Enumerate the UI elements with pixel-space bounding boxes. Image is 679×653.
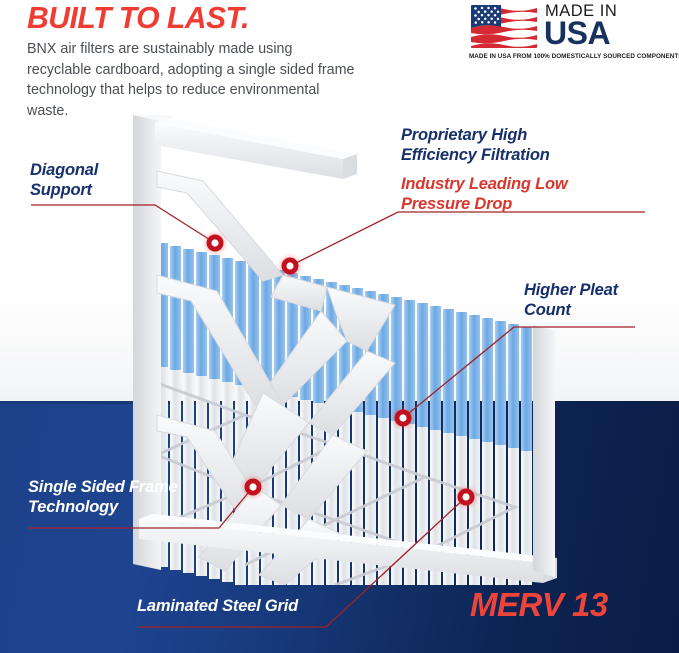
merv-rating-text: MERV 13 [470, 587, 608, 623]
badge-disclaimer-text: MADE IN USA FROM 100% DOMESTICALLY SOURC… [469, 53, 673, 61]
callout-label-higher-pleat-count: Higher Pleat Count [524, 281, 644, 320]
callout-label-laminated-steel-grid: Laminated Steel Grid [137, 597, 367, 617]
made-in-usa-badge: MADE IN USA MADE IN USA FROM 100% DOMEST… [471, 3, 671, 65]
callout-label-single-sided-frame: Single Sided Frame Technology [28, 478, 238, 517]
callout-label-industry-pressure-drop: Industry Leading Low Pressure Drop [401, 175, 601, 214]
header-body-text: BNX air filters are sustainably made usi… [27, 39, 357, 121]
infographic-canvas: BUILT TO LAST. BNX air filters are susta… [0, 0, 679, 653]
callout-label-proprietary-filtration: Proprietary High Efficiency Filtration [401, 126, 591, 165]
usa-flag-icon [471, 5, 537, 48]
callout-label-diagonal-support: Diagonal Support [30, 161, 150, 200]
badge-usa-text: USA [544, 16, 610, 50]
page-headline: BUILT TO LAST. [27, 1, 249, 35]
